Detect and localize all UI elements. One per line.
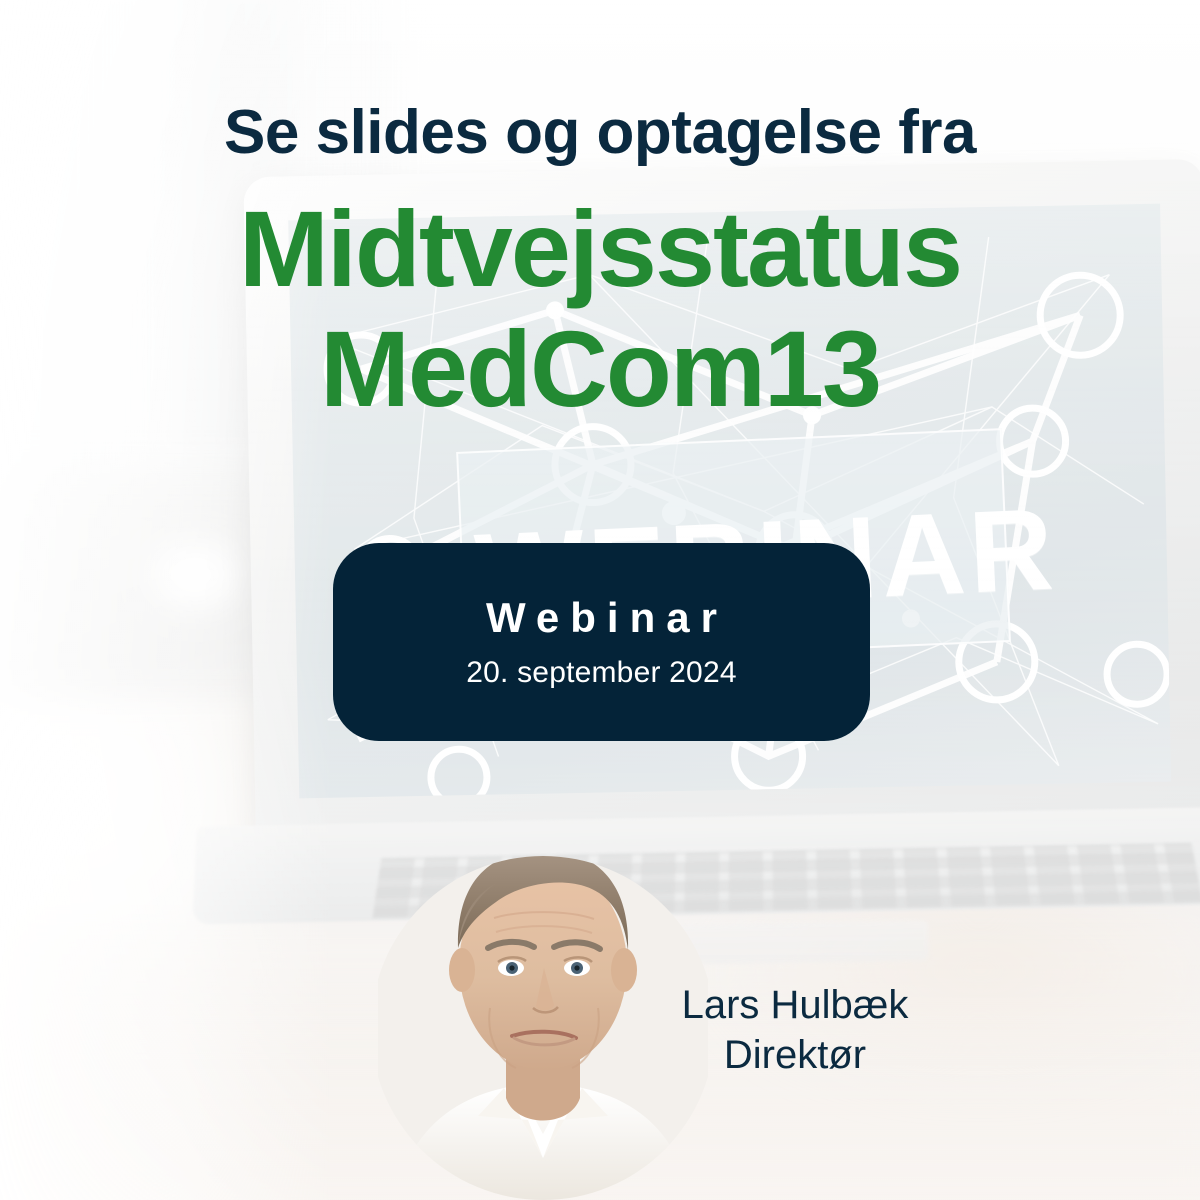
speaker-role: Direktør [640, 1030, 950, 1080]
background-mug-highlight [150, 540, 240, 610]
webinar-promo-poster: WEBINAR [0, 0, 1200, 1200]
page-title-top: Se slides og optagelse fra [0, 100, 1200, 165]
page-title-green: Midtvejsstatus MedCom13 [0, 197, 1200, 420]
speaker-name: Lars Hulbæk [640, 980, 950, 1030]
speaker-credit: Lars Hulbæk Direktør [640, 980, 950, 1080]
webinar-badge: Webinar 20. september 2024 [333, 543, 870, 741]
page-title-green-line2: MedCom13 [0, 317, 1200, 421]
webinar-badge-label: Webinar [486, 595, 728, 641]
page-title-green-line1: Midtvejsstatus [239, 188, 961, 309]
webinar-badge-date: 20. september 2024 [466, 656, 736, 689]
